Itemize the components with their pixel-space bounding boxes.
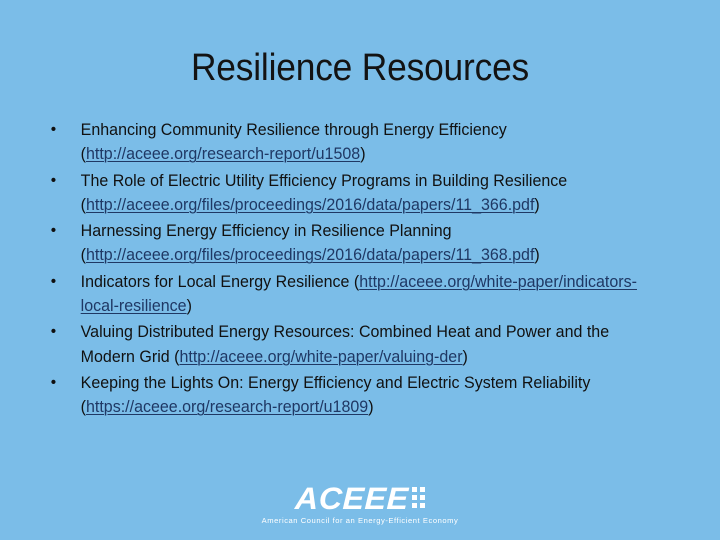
resource-link[interactable]: https://aceee.org/research-report/u1809	[86, 397, 368, 416]
list-item-label: The Role of Electric Utility Efficiency …	[81, 171, 568, 190]
list-item-label: Indicators for Local Energy Resilience	[81, 272, 354, 291]
list-item-content: Valuing Distributed Energy Resources: Co…	[81, 320, 658, 369]
list-item-content: Harnessing Energy Efficiency in Resilien…	[81, 219, 658, 268]
bullet-icon: •	[51, 219, 65, 243]
logo-wordmark-row: ACEEE	[262, 484, 459, 514]
bullet-icon: •	[51, 169, 65, 193]
list-item-content: The Role of Electric Utility Efficiency …	[81, 169, 658, 218]
list-item-label: Harnessing Energy Efficiency in Resilien…	[81, 221, 452, 240]
logo-tagline: American Council for an Energy-Efficient…	[262, 516, 459, 526]
page-title: Resilience Resources	[25, 46, 695, 90]
resource-link[interactable]: http://aceee.org/files/proceedings/2016/…	[86, 195, 534, 214]
resource-link[interactable]: http://aceee.org/white-paper/valuing-der	[179, 347, 462, 366]
aceee-logo: ACEEE American Council for an Energy-Eff…	[0, 484, 720, 528]
bullet-icon: •	[51, 371, 65, 395]
close-paren: )	[463, 347, 468, 366]
list-item-content: Keeping the Lights On: Energy Efficiency…	[81, 371, 658, 420]
list-item: • Keeping the Lights On: Energy Efficien…	[44, 371, 658, 420]
list-item: • Enhancing Community Resilience through…	[44, 118, 658, 167]
bullet-icon: •	[51, 320, 65, 344]
list-item-content: Indicators for Local Energy Resilience (…	[81, 270, 658, 319]
resource-bullet-list: • Enhancing Community Resilience through…	[44, 118, 680, 422]
list-item-label: Keeping the Lights On: Energy Efficiency…	[81, 373, 591, 392]
list-item: • Harnessing Energy Efficiency in Resili…	[44, 219, 658, 268]
close-paren: )	[368, 397, 373, 416]
close-paren: )	[187, 296, 192, 315]
logo-dot-grid-icon	[412, 487, 425, 508]
bullet-icon: •	[51, 270, 65, 294]
close-paren: )	[360, 144, 365, 163]
list-item-label: Enhancing Community Resilience through E…	[81, 120, 507, 139]
resource-link[interactable]: http://aceee.org/research-report/u1508	[86, 144, 360, 163]
list-item: • Indicators for Local Energy Resilience…	[44, 270, 658, 319]
logo-wordmark-text: ACEEE	[295, 484, 410, 514]
list-item: • The Role of Electric Utility Efficienc…	[44, 169, 658, 218]
close-paren: )	[534, 195, 539, 214]
bullet-icon: •	[51, 118, 65, 142]
slide-canvas: Resilience Resources • Enhancing Communi…	[0, 0, 720, 540]
resource-link[interactable]: http://aceee.org/files/proceedings/2016/…	[86, 245, 534, 264]
close-paren: )	[534, 245, 539, 264]
logo-inner: ACEEE American Council for an Energy-Eff…	[262, 484, 459, 526]
list-item: • Valuing Distributed Energy Resources: …	[44, 320, 658, 369]
list-item-content: Enhancing Community Resilience through E…	[81, 118, 658, 167]
